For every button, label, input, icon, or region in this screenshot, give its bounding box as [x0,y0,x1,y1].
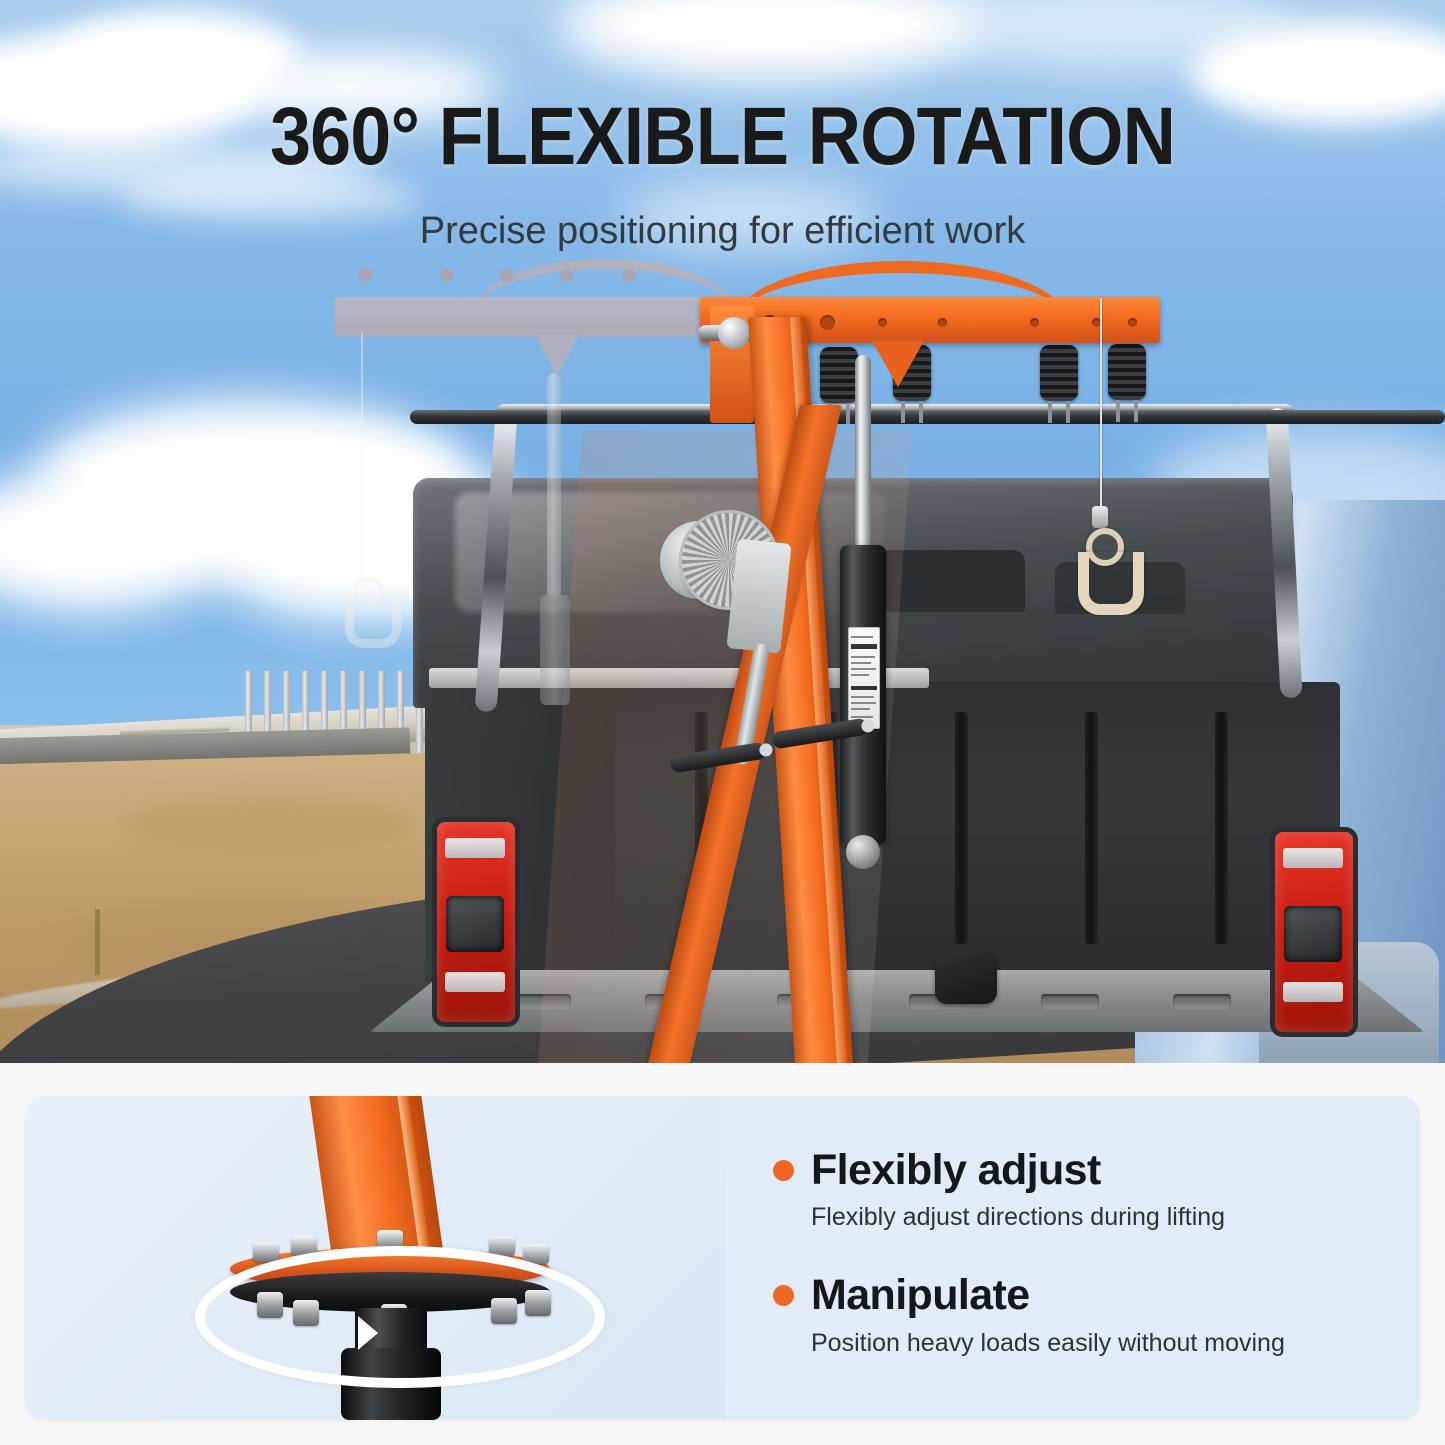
feature-item: Manipulate Position heavy loads easily w… [773,1273,1393,1358]
product-feature-page: 360° FLEXIBLE ROTATION Precise positioni… [0,0,1445,1445]
feature-title-row: Flexibly adjust [773,1148,1393,1193]
winch-ratchet-plate [726,538,791,653]
hero-image: 360° FLEXIBLE ROTATION Precise positioni… [0,0,1445,1063]
feature-description: Flexibly adjust directions during liftin… [811,1202,1393,1233]
taillight [437,822,515,1022]
page-title: 360° FLEXIBLE ROTATION [72,96,1373,178]
ghost-cylinder-body [540,595,570,705]
ghost-cylinder-rod [547,373,561,603]
rotating-base-photo [25,1096,725,1420]
hydraulic-cylinder-rod [855,355,871,555]
feature-title-row: Manipulate [773,1273,1393,1318]
feature-title: Flexibly adjust [811,1148,1101,1193]
bed-tie-down [1173,994,1231,1009]
cable-thimble [1092,506,1108,528]
survey-stake [95,909,100,975]
boom-gusset-plate [872,341,924,387]
bullet-dot-icon [773,1160,794,1181]
bed-rib [1215,712,1228,944]
pivot-washer [718,317,750,349]
feature-description: Position heavy loads easily without movi… [811,1328,1393,1359]
warning-label [848,627,880,729]
feature-item: Flexibly adjust Flexibly adjust directio… [773,1148,1393,1233]
taillight [1275,832,1353,1032]
truck-crane-assembly [640,255,1160,1063]
lifting-hook [1078,552,1144,615]
rotation-arrow-head-icon [358,1316,378,1350]
ghost-hook [345,595,401,648]
ghost-cable [361,333,363,583]
cylinder-clevis [846,835,880,869]
feature-panel: Flexibly adjust Flexibly adjust directio… [25,1096,1420,1420]
page-subtitle: Precise positioning for efficient work [0,210,1445,253]
rotation-arrow-icon [195,1246,605,1388]
feature-list: Flexibly adjust Flexibly adjust directio… [773,1148,1393,1399]
feature-title: Manipulate [811,1273,1030,1318]
lifting-cable [1100,298,1102,513]
flange-bolt [253,1242,279,1262]
ghost-gusset [535,335,579,377]
bullet-dot-icon [773,1285,794,1306]
